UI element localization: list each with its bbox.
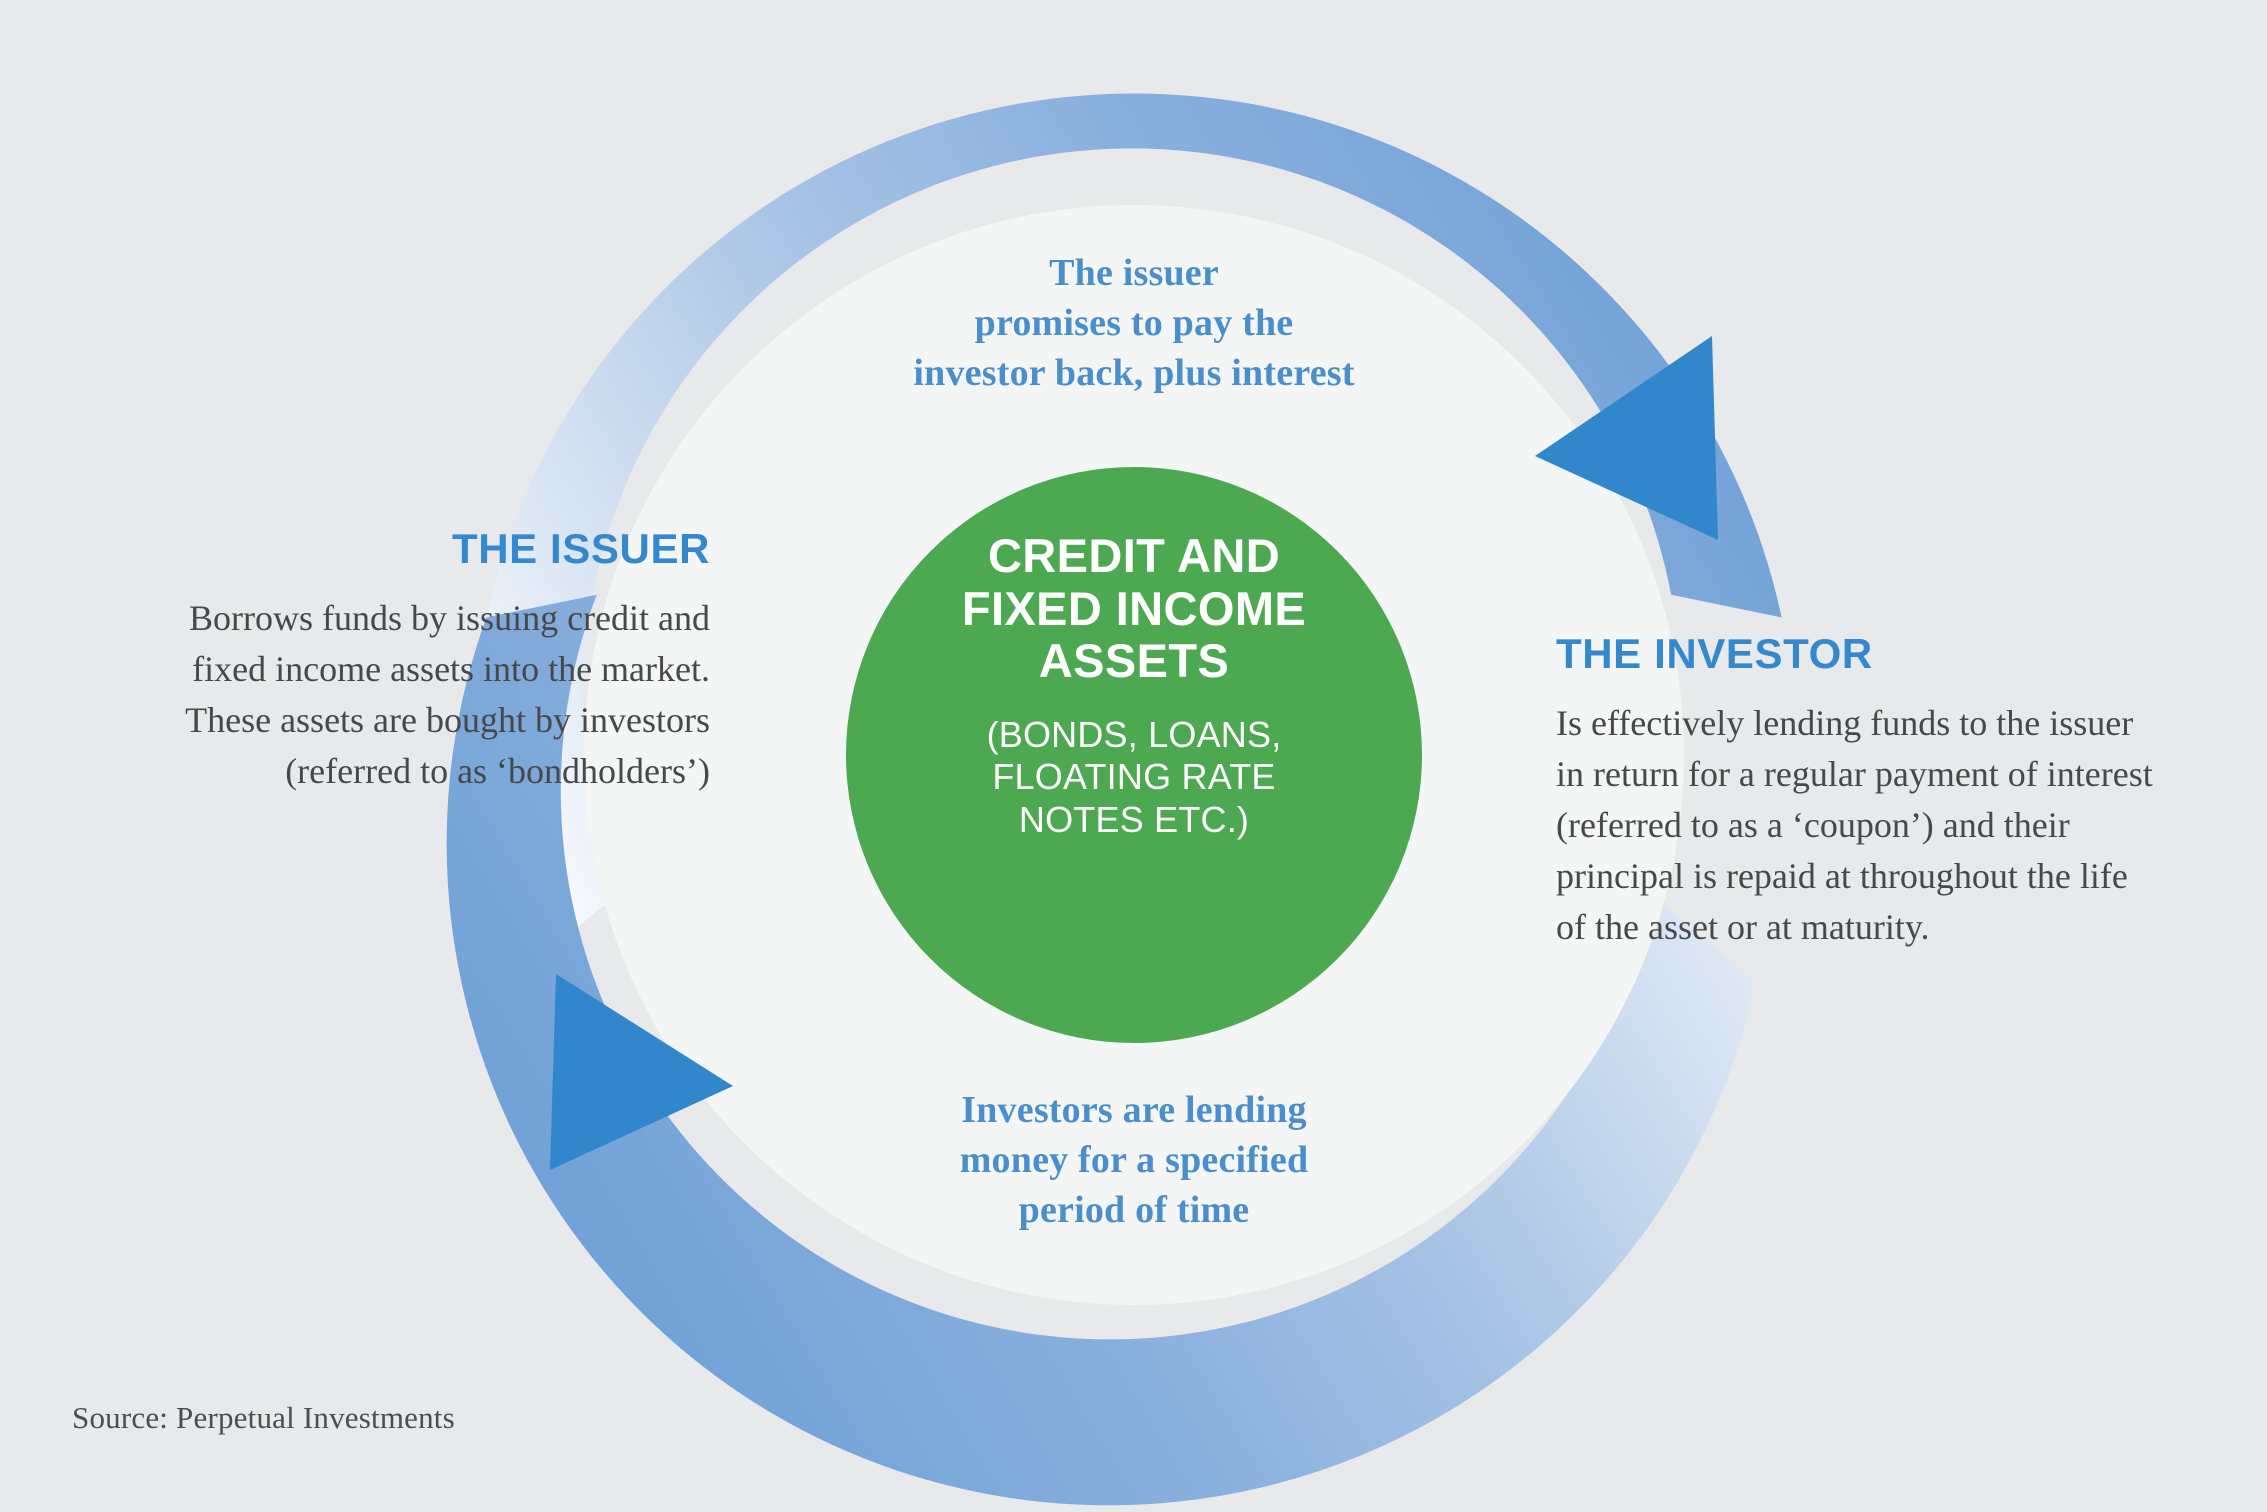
diagram-canvas: CREDIT AND FIXED INCOME ASSETS (BONDS, L… [0,0,2267,1512]
bottom-arc-caption: Investors are lending money for a specif… [767,1085,1501,1235]
top-caption-line-1: The issuer [767,248,1501,298]
top-caption-line-3: investor back, plus interest [767,348,1501,398]
top-arc-caption: The issuer promises to pay the investor … [767,248,1501,398]
center-circle [846,467,1422,1043]
bottom-caption-line-3: period of time [767,1185,1501,1235]
issuer-body-text: Borrows funds by issuing credit and fixe… [120,593,710,797]
bottom-caption-line-2: money for a specified [767,1135,1501,1185]
investor-heading: THE INVESTOR [1556,630,2156,678]
source-attribution: Source: Perpetual Investments [72,1400,455,1436]
top-caption-line-2: promises to pay the [767,298,1501,348]
investor-block: THE INVESTOR Is effectively lending fund… [1556,630,2156,954]
issuer-block: THE ISSUER Borrows funds by issuing cred… [120,525,710,797]
investor-body-text: Is effectively lending funds to the issu… [1556,698,2156,954]
issuer-heading: THE ISSUER [120,525,710,573]
bottom-caption-line-1: Investors are lending [767,1085,1501,1135]
